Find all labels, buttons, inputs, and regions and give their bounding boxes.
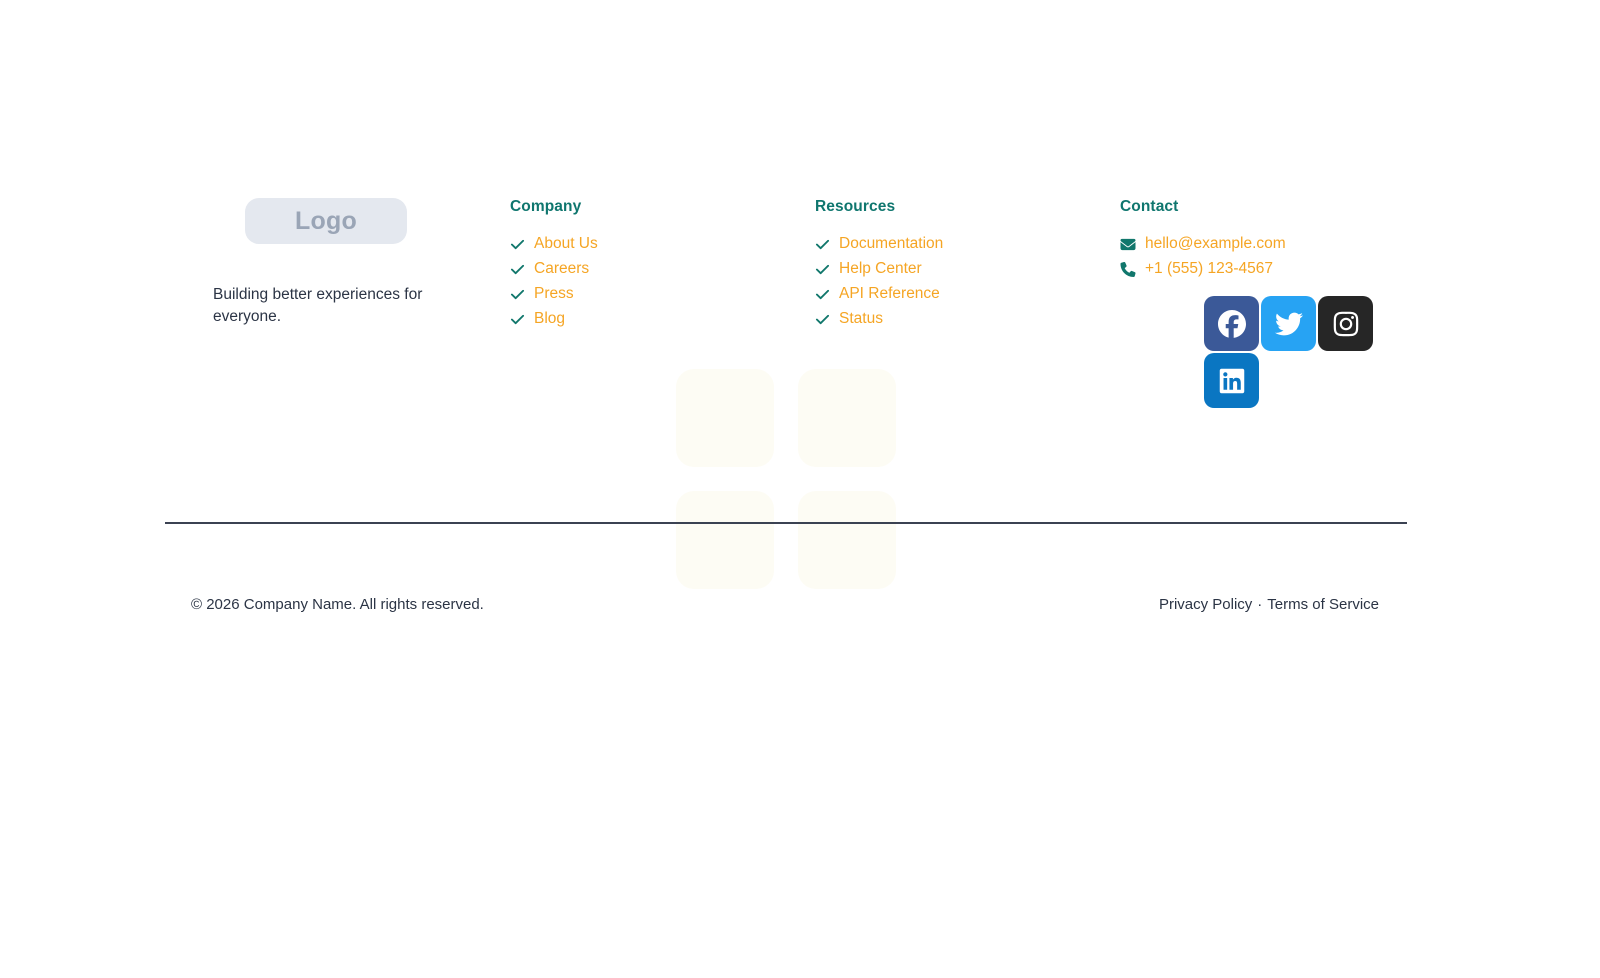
footer-column-contact: Contact hello@example.com +1 (555) 123-4… (1120, 198, 1407, 408)
footer-column-resources: Resources Documentation Help Center API … (815, 198, 1120, 333)
privacy-policy-link[interactable]: Privacy Policy (1159, 596, 1252, 613)
facebook-icon (1218, 310, 1246, 338)
footer-column-company: Company About Us Careers Press (510, 198, 815, 333)
check-icon (510, 312, 525, 327)
list-item[interactable]: Careers (510, 258, 815, 280)
check-icon (510, 262, 525, 277)
check-icon (815, 237, 830, 252)
phone-icon (1120, 262, 1136, 277)
brand-tagline: Building better experiences for everyone… (213, 284, 428, 329)
terms-of-service-link[interactable]: Terms of Service (1267, 596, 1379, 613)
logo-placeholder[interactable]: Logo (245, 198, 407, 244)
social-link-facebook[interactable] (1204, 296, 1259, 351)
page-root: Logo Building better experiences for eve… (0, 0, 1600, 978)
footer-link-status[interactable]: Status (839, 310, 883, 328)
list-item[interactable]: About Us (510, 233, 815, 255)
footer-column-brand: Logo Building better experiences for eve… (165, 198, 510, 329)
list-item[interactable]: Blog (510, 308, 815, 330)
check-icon (815, 287, 830, 302)
column-heading-contact: Contact (1120, 198, 1407, 216)
contact-phone-row[interactable]: +1 (555) 123-4567 (1120, 258, 1407, 280)
logo-text: Logo (295, 207, 357, 236)
copyright-text: © 2026 Company Name. All rights reserved… (191, 596, 484, 613)
check-icon (510, 237, 525, 252)
contact-phone-link[interactable]: +1 (555) 123-4567 (1145, 260, 1273, 278)
footer-divider (165, 522, 1407, 524)
site-footer: Logo Building better experiences for eve… (0, 0, 1600, 978)
check-icon (815, 312, 830, 327)
legal-separator: · (1257, 596, 1262, 613)
contact-email-row[interactable]: hello@example.com (1120, 233, 1407, 255)
list-item[interactable]: Documentation (815, 233, 1120, 255)
social-link-twitter[interactable] (1261, 296, 1316, 351)
twitter-icon (1275, 310, 1303, 338)
footer-link-careers[interactable]: Careers (534, 260, 589, 278)
footer-link-documentation[interactable]: Documentation (839, 235, 943, 253)
list-item[interactable]: Press (510, 283, 815, 305)
social-link-linkedin[interactable] (1204, 353, 1259, 408)
contact-email-link[interactable]: hello@example.com (1145, 235, 1286, 253)
footer-link-blog[interactable]: Blog (534, 310, 565, 328)
footer-bottom-bar: © 2026 Company Name. All rights reserved… (165, 596, 1407, 613)
list-item[interactable]: Status (815, 308, 1120, 330)
check-icon (510, 287, 525, 302)
social-links (1204, 296, 1376, 408)
instagram-icon (1332, 310, 1360, 338)
envelope-icon (1120, 237, 1136, 252)
footer-link-api-reference[interactable]: API Reference (839, 285, 940, 303)
footer-link-help-center[interactable]: Help Center (839, 260, 922, 278)
list-item[interactable]: API Reference (815, 283, 1120, 305)
column-heading-resources: Resources (815, 198, 1120, 216)
company-link-list: About Us Careers Press Blog (510, 233, 815, 330)
linkedin-icon (1218, 367, 1246, 395)
footer-link-about-us[interactable]: About Us (534, 235, 598, 253)
check-icon (815, 262, 830, 277)
legal-links: Privacy Policy · Terms of Service (1159, 596, 1379, 613)
column-heading-company: Company (510, 198, 815, 216)
list-item[interactable]: Help Center (815, 258, 1120, 280)
resources-link-list: Documentation Help Center API Reference … (815, 233, 1120, 330)
footer-columns: Logo Building better experiences for eve… (165, 198, 1407, 408)
footer-link-press[interactable]: Press (534, 285, 574, 303)
social-link-instagram[interactable] (1318, 296, 1373, 351)
